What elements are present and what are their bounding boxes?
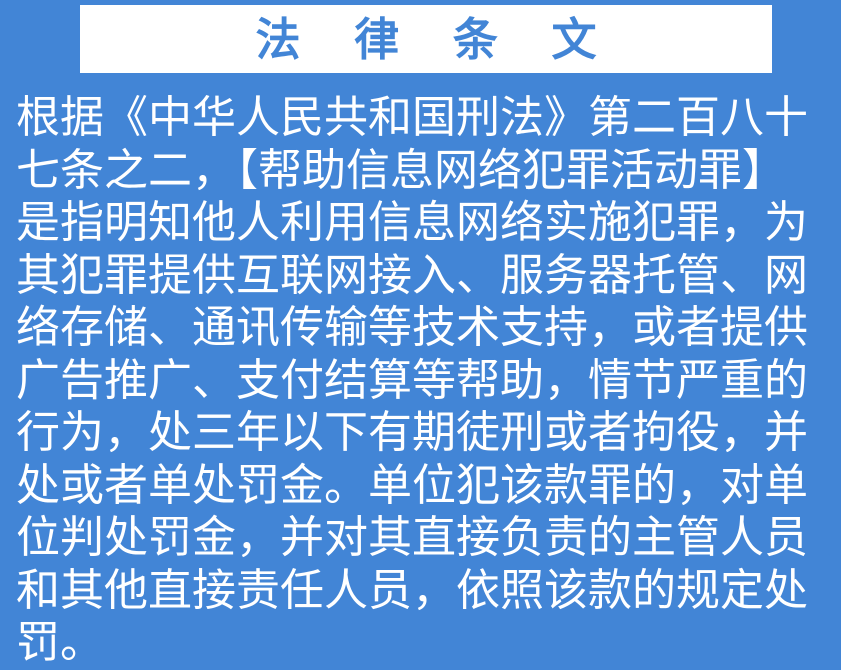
text-line: 其犯罪提供互联网接入、服务器托管、网 (16, 250, 828, 303)
text-line: 和其他直接责任人员，依照该款的规定处 (16, 565, 828, 618)
text-line: 行为，处三年以下有期徒刑或者拘役，并 (16, 407, 828, 460)
legal-provision-card: 法 律 条 文 根据《中华人民共和国刑法》第二百八十 七条之二，【帮助信息网络犯… (0, 0, 841, 663)
text-line: 根据《中华人民共和国刑法》第二百八十 (16, 92, 828, 145)
text-line: 络存储、通讯传输等技术支持，或者提供 (16, 302, 828, 355)
page-title: 法 律 条 文 (237, 17, 616, 62)
text-line: 是指明知他人利用信息网络实施犯罪，为 (16, 197, 828, 250)
text-line: 广告推广、支付结算等帮助，情节严重的 (16, 355, 828, 408)
text-line: 位判处罚金，并对其直接负责的主管人员 (16, 512, 828, 565)
text-line: 处或者单处罚金。单位犯该款罪的，对单 (16, 460, 828, 513)
legal-text-body: 根据《中华人民共和国刑法》第二百八十 七条之二，【帮助信息网络犯罪活动罪】 是指… (16, 92, 828, 670)
title-banner: 法 律 条 文 (80, 5, 772, 73)
text-line: 七条之二，【帮助信息网络犯罪活动罪】 (16, 145, 828, 198)
text-line: 罚。 (16, 617, 828, 670)
